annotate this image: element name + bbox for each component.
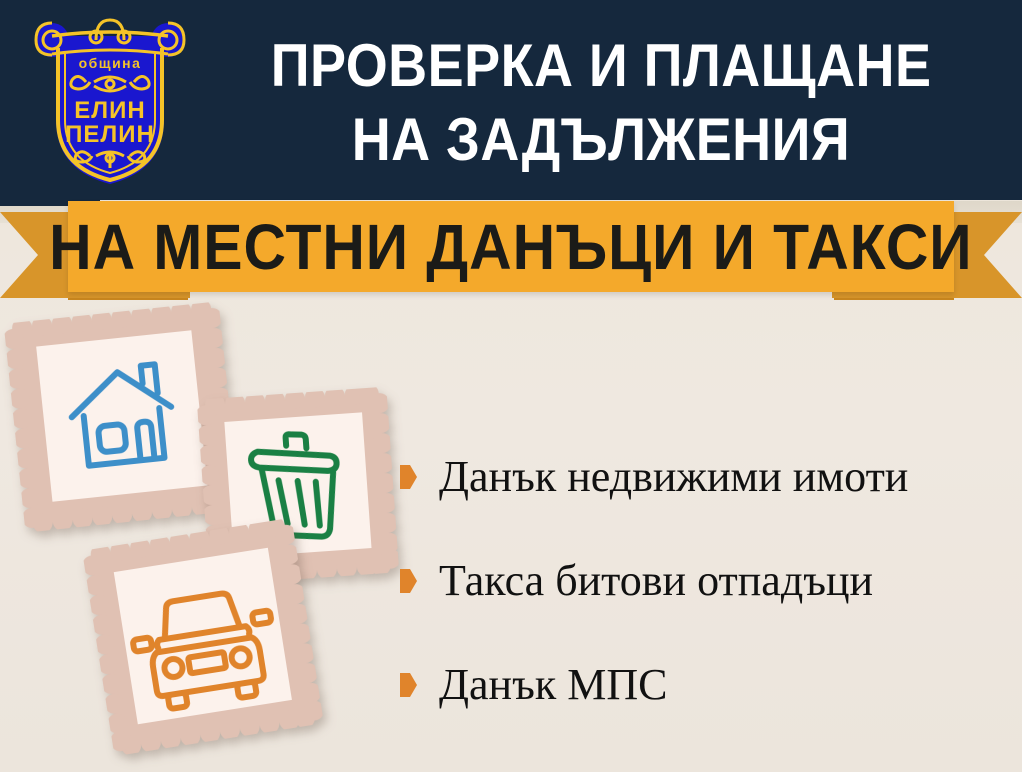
subtitle-ribbon: НА МЕСТНИ ДАНЪЦИ И ТАКСИ — [68, 201, 954, 292]
bullet-arrow-icon — [400, 465, 417, 489]
page-title-line-2: НА ЗАДЪЛЖЕНИЯ — [352, 103, 850, 177]
bullet-arrow-icon — [400, 569, 417, 593]
list-item[interactable]: Такса битови отпадъци — [400, 529, 1012, 633]
tax-type-list: Данък недвижими имоти Такса битови отпад… — [400, 425, 1012, 737]
list-item[interactable]: Данък МПС — [400, 633, 1012, 737]
list-item-label: Такса битови отпадъци — [439, 557, 873, 605]
list-item-label: Данък недвижими имоти — [439, 453, 908, 501]
page-title-line-1: ПРОВЕРКА И ПЛАЩАНЕ — [271, 29, 932, 103]
stamp-paper — [36, 330, 207, 501]
list-item[interactable]: Данък недвижими имоти — [400, 425, 1012, 529]
emblem-name-line1: ЕЛИН — [74, 97, 145, 124]
emblem-top-word: община — [79, 55, 142, 71]
poster-root: община ЕЛИН ПЕЛИН ПРОВЕРКА И ПЛАЩАНЕ — [0, 0, 1022, 772]
list-item-label: Данък МПС — [439, 661, 667, 709]
stamp-vehicle-tax — [82, 518, 324, 757]
bullet-arrow-icon — [400, 673, 417, 697]
municipality-coat-of-arms: община ЕЛИН ПЕЛИН — [34, 10, 186, 188]
page-title: ПРОВЕРКА И ПЛАЩАНЕ НА ЗАДЪЛЖЕНИЯ — [186, 18, 1016, 188]
subtitle-ribbon-text: НА МЕСТНИ ДАНЪЦИ И ТАКСИ — [49, 215, 972, 279]
emblem-name-line2: ПЕЛИН — [65, 121, 155, 148]
